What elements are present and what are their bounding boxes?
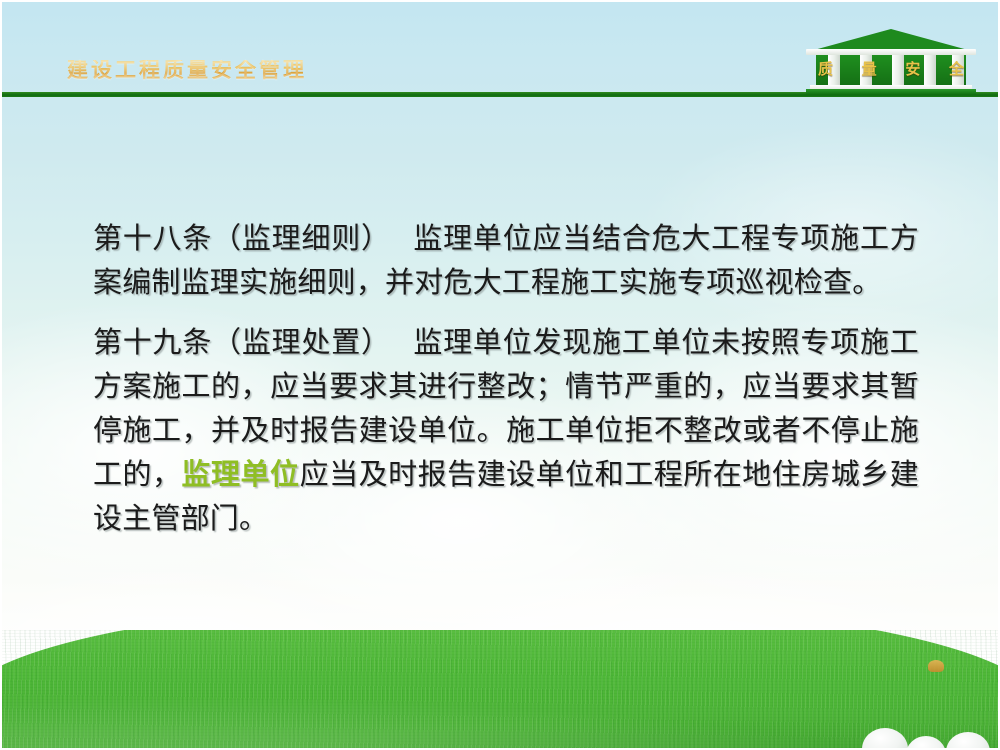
logo-column-3 bbox=[892, 55, 904, 85]
logo-plinth-green bbox=[806, 89, 976, 95]
logo-column-4 bbox=[924, 55, 936, 85]
field-tree-icon bbox=[928, 660, 944, 672]
paragraph-article-19: 第十九条（监理处置）监理单位发现施工单位未按照专项施工方案施工的，应当要求其进行… bbox=[93, 320, 919, 540]
grass-hill bbox=[0, 630, 1000, 750]
logo-roof-pediment bbox=[814, 29, 968, 50]
article-19-label: 第十九条（监理处置） bbox=[93, 325, 391, 359]
paragraph-article-18: 第十八条（监理细则）监理单位应当结合危大工程专项施工方案编制监理实施细则，并对危… bbox=[93, 216, 919, 304]
slide: 建设工程质量安全管理 质 量 安 全 第十八条（监理细则）监理单位应当结合危大工… bbox=[0, 0, 1000, 750]
grass-field bbox=[0, 630, 1000, 750]
logo-column-2 bbox=[860, 55, 872, 85]
grass-shading bbox=[0, 630, 1000, 750]
article-19-highlight: 监理单位 bbox=[182, 457, 300, 491]
quality-safety-temple-logo: 质 量 安 全 bbox=[806, 29, 976, 95]
article-18-label: 第十八条（监理细则） bbox=[93, 221, 391, 255]
slide-content: 第十八条（监理细则）监理单位应当结合危大工程专项施工方案编制监理实施细则，并对危… bbox=[93, 216, 919, 540]
logo-column-1 bbox=[828, 55, 840, 85]
header: 建设工程质量安全管理 质 量 安 全 bbox=[0, 0, 1000, 100]
logo-column-5 bbox=[952, 55, 964, 85]
page-title: 建设工程质量安全管理 bbox=[67, 60, 307, 81]
